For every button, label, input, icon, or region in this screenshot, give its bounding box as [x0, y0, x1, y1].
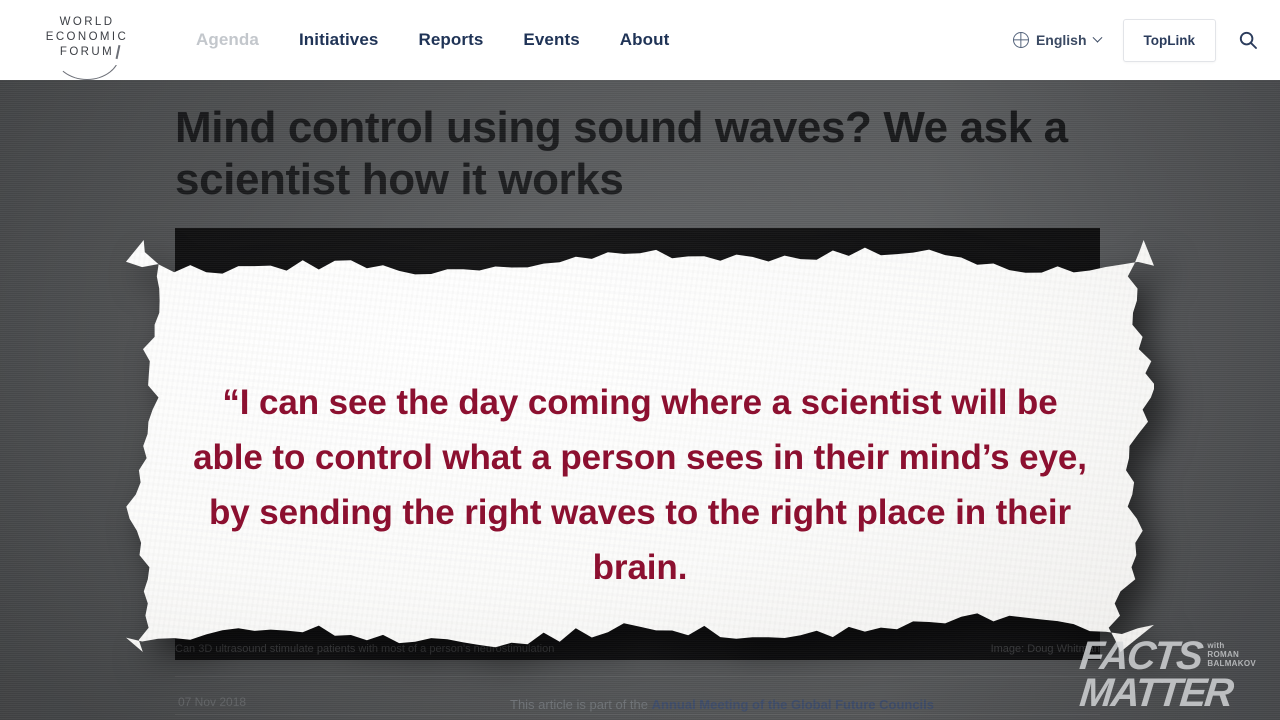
video-frame: WORLD ECONOMIC FORUM Agenda Initiatives … [0, 0, 1280, 720]
site-header: WORLD ECONOMIC FORUM Agenda Initiatives … [0, 0, 1280, 80]
annual-meeting-link[interactable]: Annual Meeting of the Global Future Coun… [652, 697, 934, 712]
nav-item-reports[interactable]: Reports [418, 30, 483, 50]
article-page-body: Mind control using sound waves? We ask a… [0, 80, 1280, 720]
nav-item-initiatives[interactable]: Initiatives [299, 30, 379, 50]
pull-quote-card: “I can see the day coming where a scient… [126, 240, 1154, 652]
divider-top [175, 676, 1100, 677]
divider-bottom [175, 714, 1100, 715]
logo-arc-icon [54, 54, 120, 80]
header-actions: English TopLink [1013, 19, 1258, 62]
logo-line-1: WORLD [24, 15, 150, 30]
logo-line-2: ECONOMIC [24, 30, 150, 45]
annual-meeting-note: This article is part of the Annual Meeti… [510, 697, 934, 712]
chevron-down-icon [1092, 32, 1102, 42]
nav-item-events[interactable]: Events [523, 30, 579, 50]
page-title: Mind control using sound waves? We ask a… [175, 102, 1105, 206]
language-selector[interactable]: English [1013, 32, 1101, 48]
pull-quote-text: “I can see the day coming where a scient… [188, 375, 1092, 595]
world-economic-forum-logo[interactable]: WORLD ECONOMIC FORUM [24, 9, 150, 71]
toplink-button[interactable]: TopLink [1123, 19, 1217, 62]
annual-meeting-prefix: This article is part of the [510, 697, 652, 712]
language-label: English [1036, 32, 1087, 48]
nav-item-agenda[interactable]: Agenda [196, 30, 259, 50]
globe-icon [1013, 32, 1029, 48]
search-icon[interactable] [1238, 30, 1258, 50]
main-navigation: Agenda Initiatives Reports Events About [196, 30, 669, 50]
nav-item-about[interactable]: About [620, 30, 670, 50]
article-date: 07 Nov 2018 [178, 695, 246, 709]
